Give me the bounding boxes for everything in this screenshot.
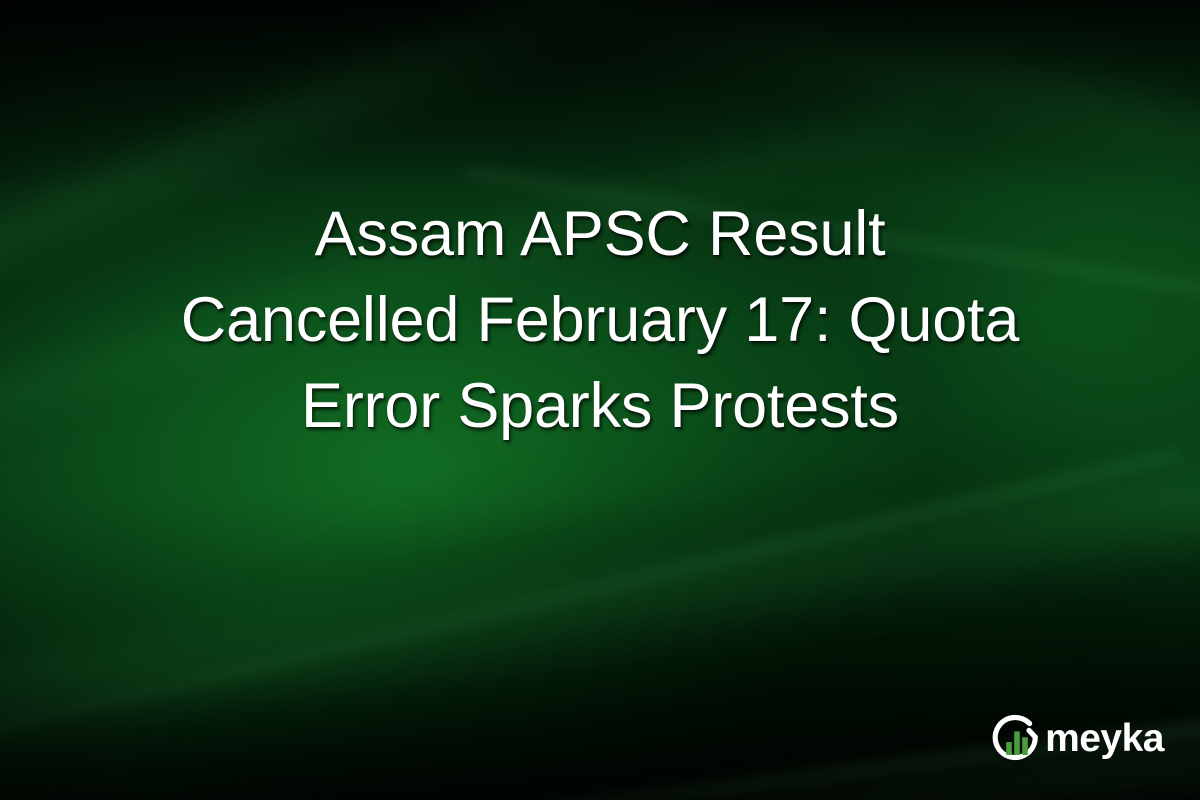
- headline-container: Assam APSC Result Cancelled February 17:…: [0, 0, 1200, 640]
- circle-bar-chart-logo-icon: [991, 714, 1043, 766]
- page-title: Assam APSC Result Cancelled February 17:…: [48, 191, 1152, 449]
- brand-logo[interactable]: meyka: [991, 714, 1164, 766]
- brand-wordmark: meyka: [1045, 719, 1164, 761]
- share-card-banner: Assam APSC Result Cancelled February 17:…: [0, 0, 1200, 800]
